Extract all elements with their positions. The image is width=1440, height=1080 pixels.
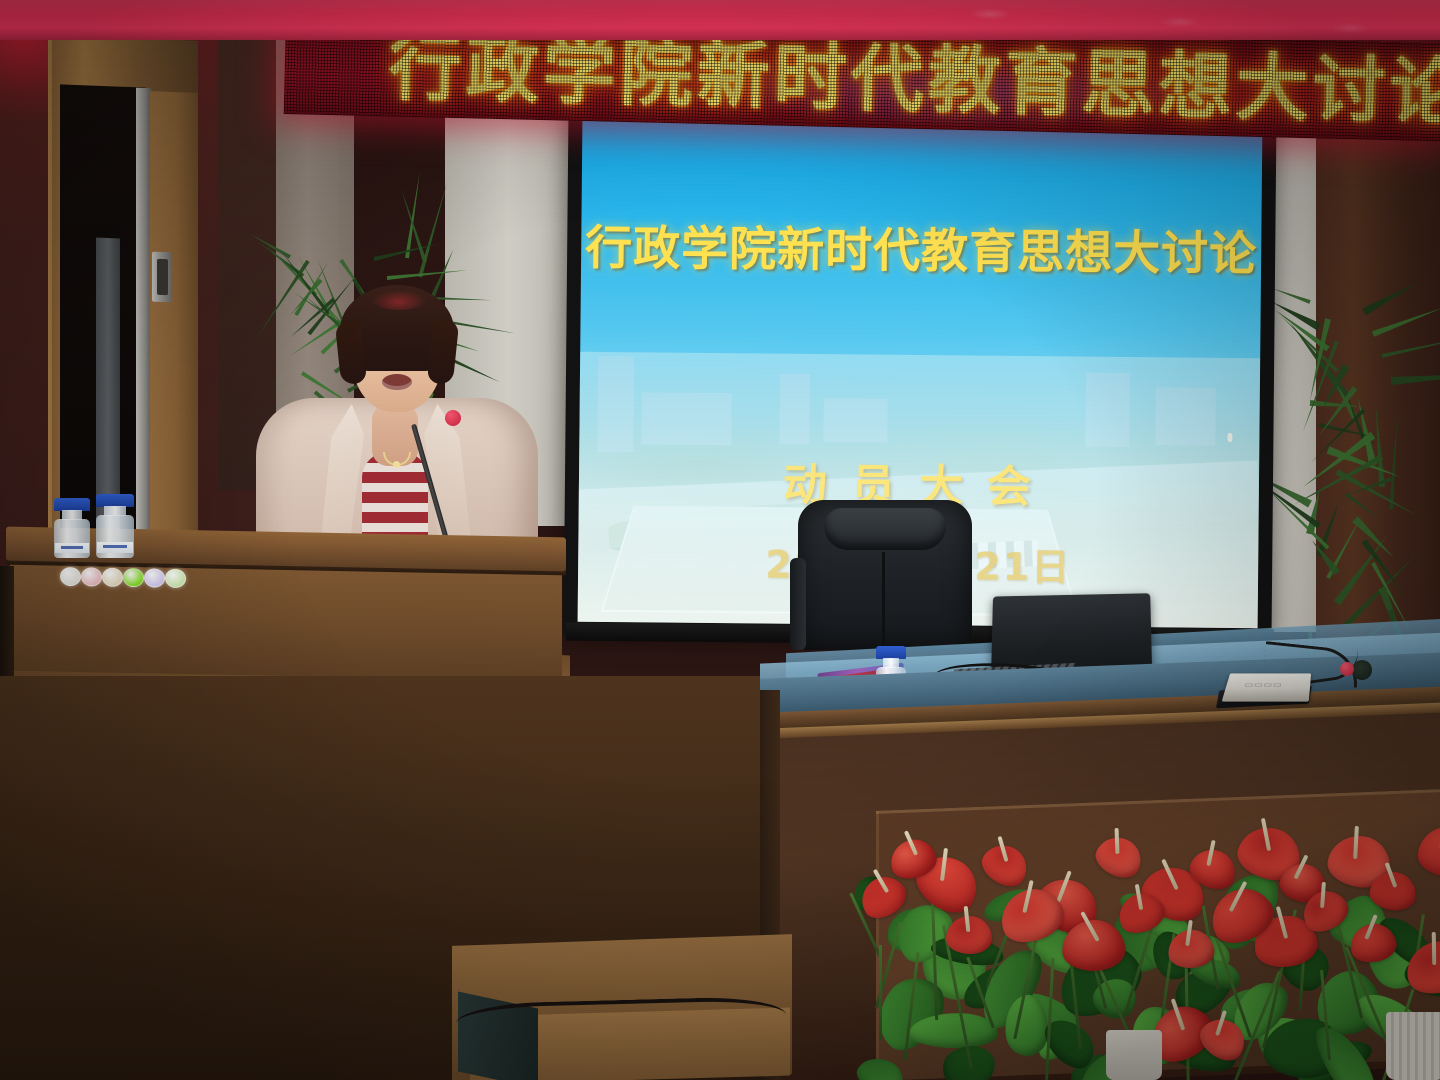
podium-badge-6 — [165, 569, 186, 588]
anthurium-flower — [976, 837, 1035, 893]
palm-frond — [1382, 335, 1440, 358]
conference-mic-unit[interactable]: ▭▭▭▭ — [1222, 673, 1312, 701]
chair-headrest — [824, 508, 946, 550]
podium-microphone-icon[interactable] — [445, 410, 461, 426]
bottle-label — [97, 542, 133, 553]
ceiling-red-glow — [0, 0, 1440, 40]
podium-badge-1 — [60, 567, 81, 586]
bottle-label — [55, 543, 90, 553]
bottle-body — [54, 519, 90, 558]
chair-armrest — [790, 558, 806, 650]
anthurium-flower — [1417, 825, 1440, 878]
podium-badge-4 — [123, 568, 144, 587]
flower-leaf — [852, 1051, 908, 1080]
bottle-body — [96, 515, 134, 558]
water-bottle-podium-1[interactable] — [54, 498, 90, 558]
flower-vase-center — [1106, 1030, 1162, 1080]
mic-unit-brand: ▭▭▭▭ — [1243, 681, 1283, 689]
flower-vase-right — [1386, 1012, 1440, 1080]
table-mic-foam — [1352, 660, 1372, 680]
palm-frond — [1372, 305, 1440, 337]
slide-title: 行政学院新时代教育思想大讨论 — [581, 209, 1262, 285]
table-microphone-icon[interactable] — [1340, 662, 1354, 676]
conference-hall-photo: 行政学院新时代教育思想大讨论 动员大会 2018年 月21日 行政学院新时代教育… — [0, 0, 1440, 1080]
palm-frond — [1389, 414, 1399, 509]
door-leaf[interactable] — [150, 91, 198, 581]
speaker-hair-highlight — [372, 290, 426, 310]
podium-badge-3 — [102, 568, 123, 587]
water-bottle-podium-2[interactable] — [96, 494, 134, 558]
anthurium-spadix — [1115, 828, 1120, 854]
door-hinge-icon — [152, 252, 172, 303]
speaker-mouth — [382, 374, 412, 390]
screen-highlight-dot — [1227, 433, 1232, 442]
chair-seam — [882, 552, 885, 648]
podium-badge-5 — [144, 568, 165, 587]
palm-frond — [387, 268, 468, 280]
palm-frond — [1362, 279, 1420, 316]
podium-badge-2 — [81, 567, 102, 586]
podium-badge-row — [60, 567, 188, 589]
flower-stem — [879, 945, 882, 1040]
palm-frond — [1391, 370, 1440, 385]
anthurium-flower — [1090, 831, 1147, 884]
